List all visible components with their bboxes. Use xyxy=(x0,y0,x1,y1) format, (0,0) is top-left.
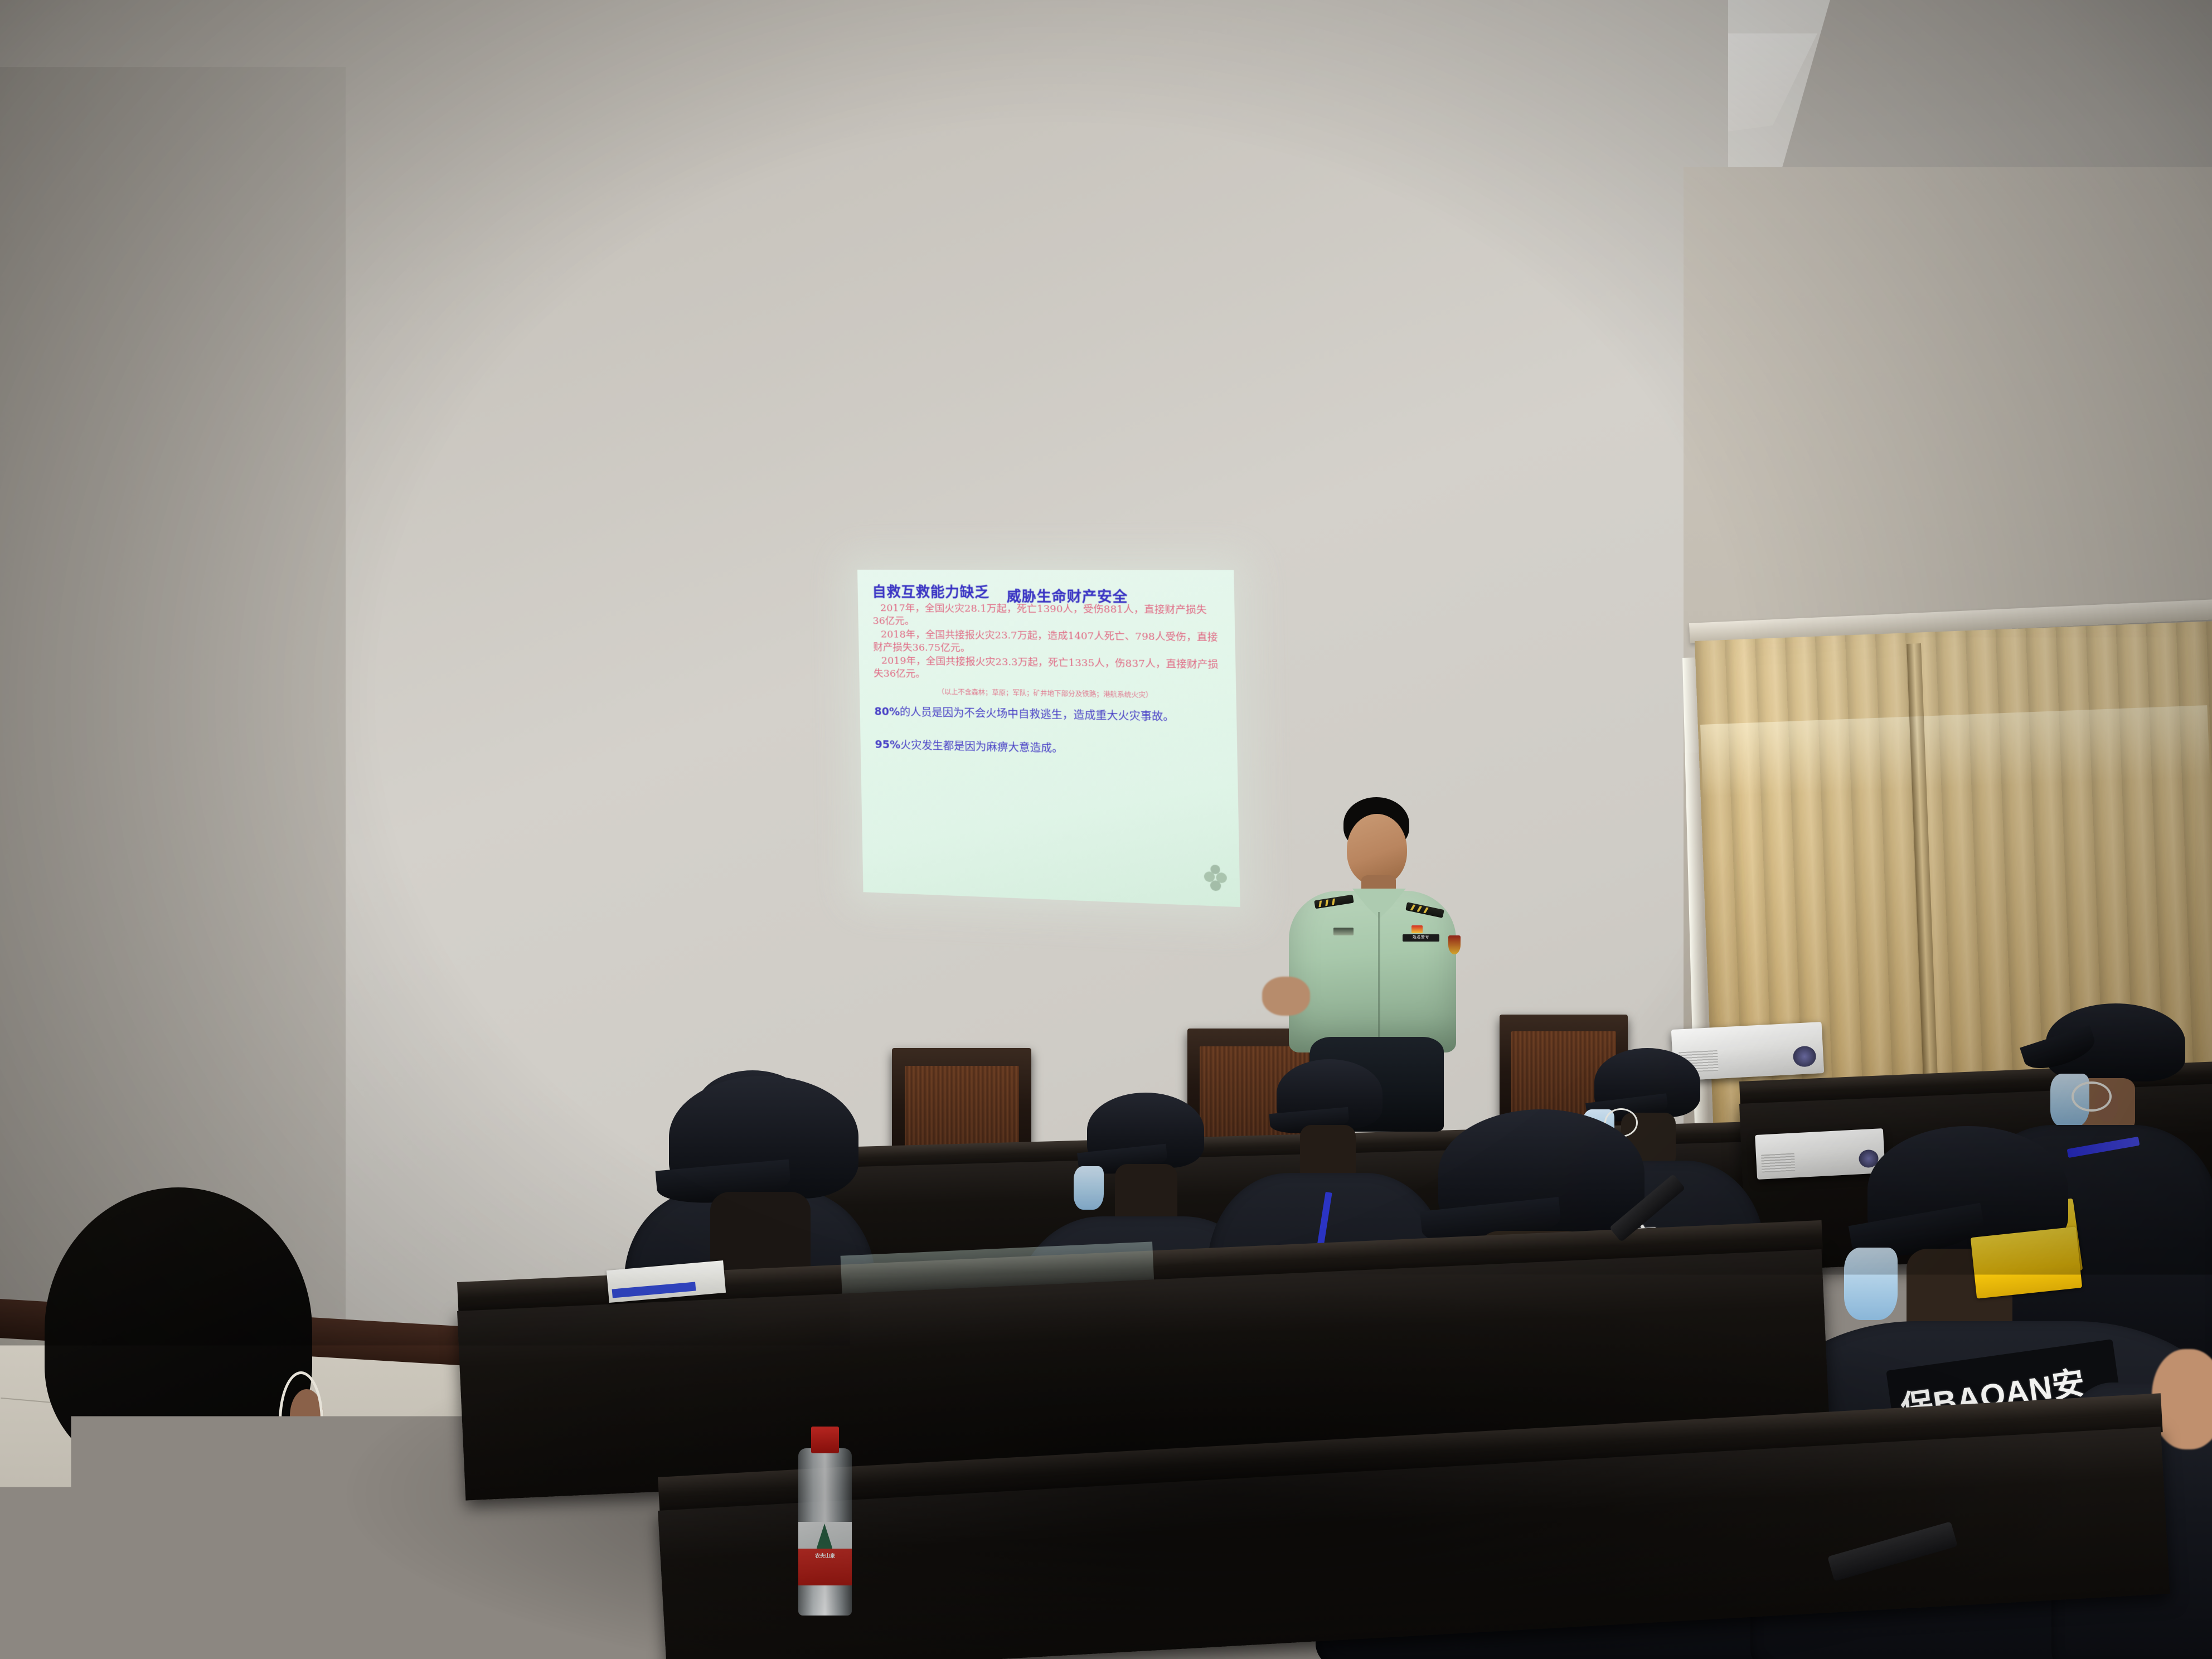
slide-body: 2017年，全国火灾28.1万起，死亡1390人，受伤881人，直接财产损失36… xyxy=(872,602,1220,686)
presenter-nametag: 姓名警号 xyxy=(1403,934,1439,942)
slide-watermark-icon xyxy=(1202,861,1229,892)
bottle-brand-text: 农夫山泉 xyxy=(798,1552,852,1559)
audience-member-foreground-left xyxy=(22,1187,379,1659)
slide-footnote: （以上不含森林；草原；军队；矿井地下部分及铁路；港航系统火灾） xyxy=(874,685,1221,701)
slide-stat-80-value: 80% xyxy=(874,706,900,719)
slide-body-line-1: 2017年，全国火灾28.1万起，死亡1390人，受伤881人，直接财产损失36… xyxy=(872,602,1219,630)
water-bottle[interactable]: 农夫山泉 xyxy=(798,1448,852,1616)
presenter-chest-badge-icon xyxy=(1411,925,1423,933)
lecture-room-photo: 自救互救能力缺乏威胁生命财产安全 2017年，全国火灾28.1万起，死亡1390… xyxy=(0,0,2212,1659)
audience-hair xyxy=(45,1187,312,1472)
audience-mask-strap xyxy=(2072,1081,2112,1112)
audience-face-mask xyxy=(1844,1248,1898,1320)
slide-title: 自救互救能力缺乏威胁生命财产安全 xyxy=(872,584,1219,601)
slide-body-line-2: 2018年，全国共接报火灾23.7万起，造成1407人死亡、798人受伤，直接财… xyxy=(873,628,1220,658)
presenter-uniform-placket xyxy=(1378,912,1380,1050)
slide-body-line-3: 2019年，全国共接报火灾23.3万起，死亡1335人，伤837人，直接财产损失… xyxy=(874,654,1220,685)
slide-stat-80-text: 的人员是因为不会火场中自救逃生，造成重大火灾事故。 xyxy=(900,706,1175,723)
bottle-cap xyxy=(811,1427,839,1453)
slide-title-right: 威胁生命财产安全 xyxy=(1007,589,1128,605)
presenter-head xyxy=(1347,814,1407,885)
audience-armband xyxy=(1971,1226,2082,1298)
audience-mask-strap xyxy=(279,1371,323,1472)
audience-face-mask xyxy=(1074,1166,1104,1210)
slide-stat-95-value: 95% xyxy=(875,739,900,751)
audience-tan-shirt xyxy=(11,1522,401,1659)
slide-stat-95-text: 火灾发生都是因为麻痹大意造成。 xyxy=(900,739,1063,755)
presenter-pocket-insignia-icon xyxy=(1333,928,1354,935)
presenter-gesturing-hand xyxy=(1262,977,1310,1016)
slide-stat-80: 80%的人员是因为不会火场中自救逃生，造成重大火灾事故。 xyxy=(874,706,1221,725)
slide-stat-95: 95%火灾发生都是因为麻痹大意造成。 xyxy=(875,739,1221,759)
projector-lens-icon xyxy=(1793,1046,1816,1068)
slide-title-left: 自救互救能力缺乏 xyxy=(872,584,989,600)
presenter-shoulder-patch-icon xyxy=(1448,935,1461,954)
wall-left xyxy=(0,67,346,1349)
projected-slide: 自救互救能力缺乏威胁生命财产安全 2017年，全国火灾28.1万起，死亡1390… xyxy=(857,570,1240,907)
